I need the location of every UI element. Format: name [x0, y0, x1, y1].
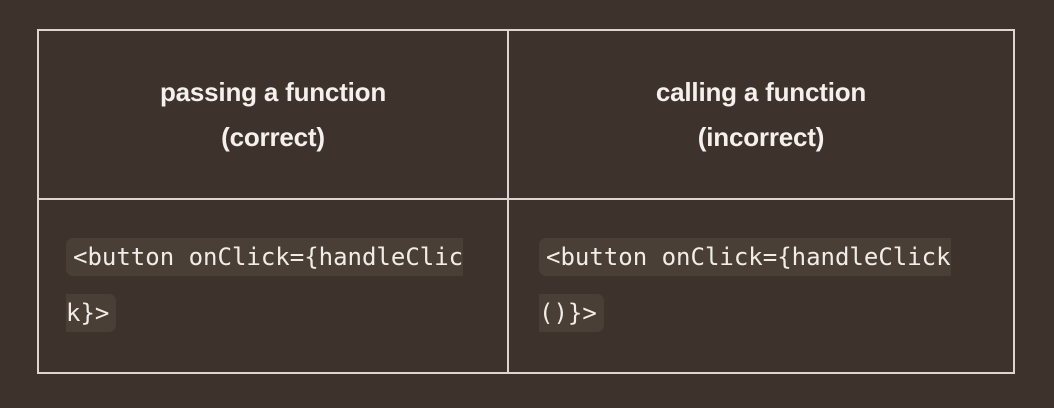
code-snippet-incorrect: <button onClick={handleClick()}>	[539, 238, 951, 332]
header-line-secondary-left: (correct)	[57, 115, 489, 160]
code-cell-correct: <button onClick={handleClick}>	[38, 199, 508, 373]
page-root: passing a function (correct) calling a f…	[0, 0, 1054, 408]
header-cell-passing-a-function: passing a function (correct)	[38, 30, 508, 199]
table-header: passing a function (correct) calling a f…	[38, 30, 1014, 199]
header-line-primary-right: calling a function	[527, 70, 995, 115]
header-line-primary-left: passing a function	[57, 70, 489, 115]
header-cell-calling-a-function: calling a function (incorrect)	[508, 30, 1014, 199]
table-row: <button onClick={handleClick}> <button o…	[38, 199, 1014, 373]
table-header-row: passing a function (correct) calling a f…	[38, 30, 1014, 199]
table-body: <button onClick={handleClick}> <button o…	[38, 199, 1014, 373]
code-cell-incorrect: <button onClick={handleClick()}>	[508, 199, 1014, 373]
comparison-table: passing a function (correct) calling a f…	[37, 29, 1015, 374]
code-snippet-correct: <button onClick={handleClick}>	[66, 238, 463, 332]
header-line-secondary-right: (incorrect)	[527, 115, 995, 160]
